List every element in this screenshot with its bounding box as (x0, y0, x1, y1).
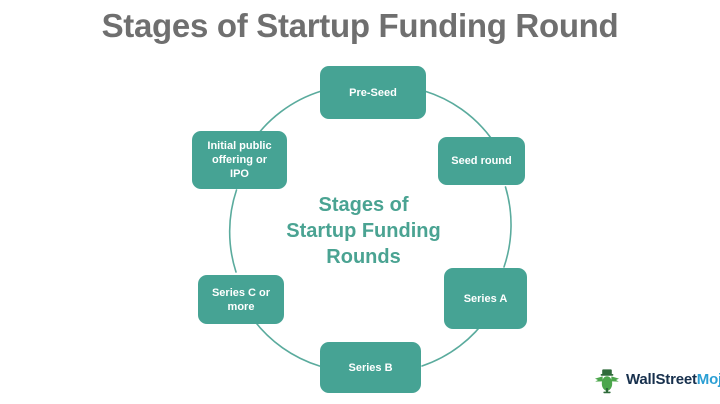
node-series-a-label: Series A (464, 292, 508, 306)
node-pre-seed-label: Pre-Seed (349, 86, 397, 100)
node-ipo[interactable]: Initial public offering or IPO (192, 131, 287, 189)
node-seed-round[interactable]: Seed round (438, 137, 525, 185)
node-series-c-label-line-2: more (212, 300, 270, 314)
infographic-canvas: Stages of Startup Funding Round Stages o… (0, 0, 720, 404)
page-title: Stages of Startup Funding Round (0, 6, 720, 46)
center-label-line-2: Startup Funding (271, 218, 456, 244)
node-ipo-label-line-3: IPO (207, 167, 271, 181)
center-label-line-1: Stages of (271, 192, 456, 218)
node-ipo-label-line-2: offering or (207, 153, 271, 167)
node-series-b[interactable]: Series B (320, 342, 421, 393)
node-series-c[interactable]: Series C or more (198, 275, 284, 324)
bull-mark-icon (592, 364, 622, 394)
node-ipo-label-line-1: Initial public (207, 139, 271, 153)
wallstreetmojo-logo[interactable]: WallStreetMojo (592, 362, 714, 396)
center-label: Stages of Startup Funding Rounds (271, 192, 456, 270)
logo-text-primary: WallStreet (626, 371, 697, 388)
node-series-a[interactable]: Series A (444, 268, 527, 329)
node-seed-round-label: Seed round (451, 154, 512, 168)
cycle-diagram: Stages of Startup Funding Rounds Pre-See… (0, 46, 720, 404)
logo-wordmark: WallStreetMojo (626, 371, 720, 388)
node-pre-seed[interactable]: Pre-Seed (320, 66, 426, 119)
node-series-c-label-line-1: Series C or (212, 286, 270, 300)
node-series-b-label: Series B (348, 361, 392, 375)
center-label-line-3: Rounds (271, 244, 456, 270)
logo-text-secondary: Mojo (697, 371, 720, 388)
